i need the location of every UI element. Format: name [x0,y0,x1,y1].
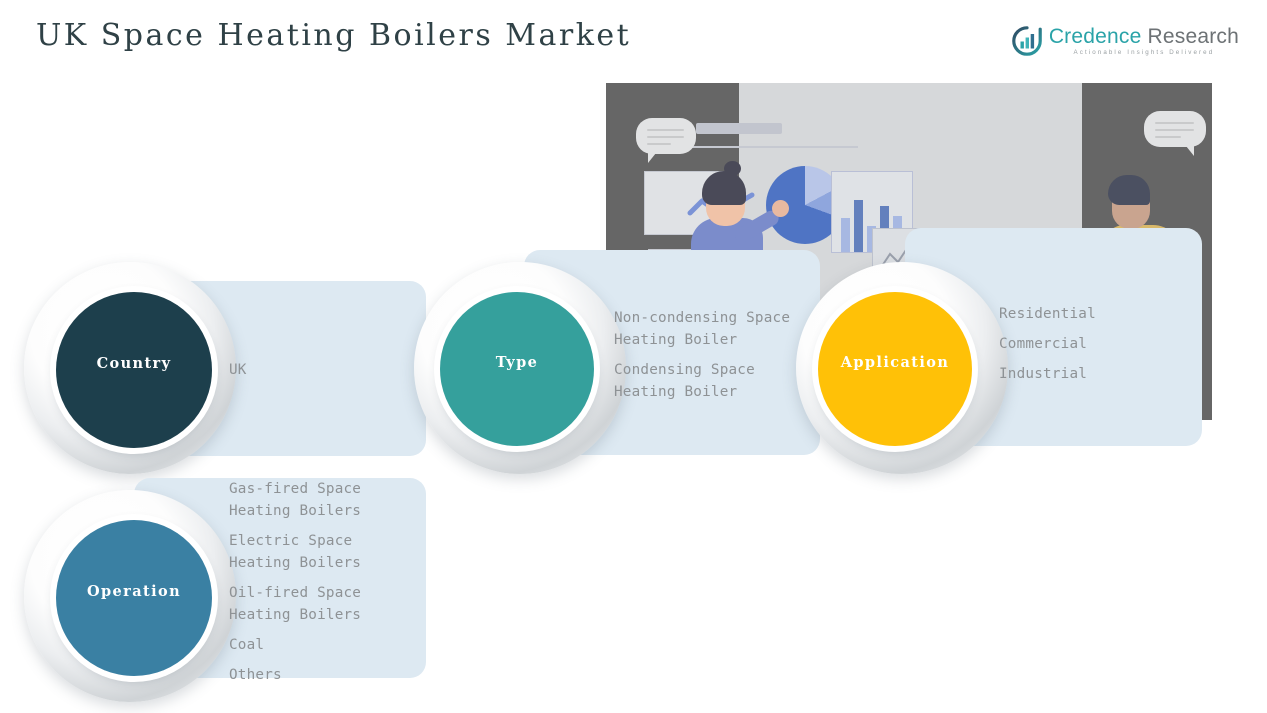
type-label: Type [440,354,594,371]
application-circle[interactable]: Application [818,292,972,446]
bar-2 [854,200,863,252]
list-item: Residential [999,303,1189,325]
infographic-canvas: UK Space Heating Boilers Market Credence… [0,0,1267,713]
list-item: Oil-fired Space Heating Boilers [229,582,424,626]
bar-chart-circle-icon [1012,26,1042,56]
speech-bubble-left [636,118,696,154]
bar-1 [841,218,850,252]
page-title: UK Space Heating Boilers Market [36,18,631,53]
brand-name-second: Research [1148,25,1239,48]
list-item: Industrial [999,363,1189,385]
brand-logo: Credence Research Actionable Insights De… [1012,26,1239,56]
country-circle[interactable]: Country [56,292,212,448]
list-item: Condensing Space Heating Boiler [614,359,814,403]
country-items: UK [229,359,409,381]
brand-tagline: Actionable Insights Delivered [1049,50,1239,56]
list-item: Coal [229,634,424,656]
person-left-hand [772,200,789,217]
country-label: Country [56,355,212,372]
list-item: Others [229,664,424,686]
brand-name: Credence Research [1049,26,1239,47]
list-item: Commercial [999,333,1189,355]
person-right-hair [1108,175,1150,205]
operation-circle[interactable]: Operation [56,520,212,676]
type-items: Non-condensing Space Heating Boiler Cond… [614,307,814,403]
application-items: Residential Commercial Industrial [999,303,1189,385]
brand-name-first: Credence [1049,25,1142,48]
operation-label: Operation [56,583,212,600]
operation-items: Gas-fired Space Heating Boilers Electric… [229,478,424,686]
list-item: UK [229,359,409,381]
list-item: Electric Space Heating Boilers [229,530,424,574]
list-item: Non-condensing Space Heating Boiler [614,307,814,351]
list-item: Gas-fired Space Heating Boilers [229,478,424,522]
application-label: Application [818,354,972,371]
whiteboard-title-bar [696,123,782,134]
type-circle[interactable]: Type [440,292,594,446]
speech-bubble-right [1144,111,1206,147]
person-left-hair-bun [724,161,741,176]
